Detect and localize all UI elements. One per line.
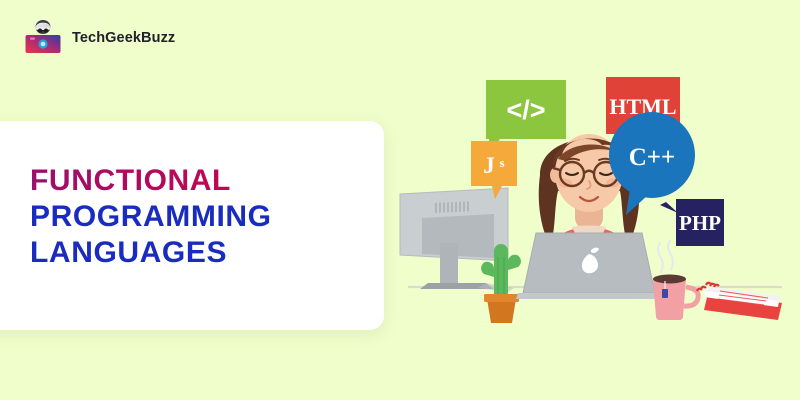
cpp-bubble-label: C++: [629, 144, 676, 171]
js-bubble-label-sup: s: [499, 155, 504, 170]
code-bubble-label: </>: [506, 95, 545, 125]
camera-logo-icon: [24, 18, 62, 58]
laptop: [516, 233, 662, 299]
brand-logo[interactable]: TechGeekBuzz: [24, 18, 175, 58]
php-bubble-label: PHP: [679, 211, 721, 235]
brand-name: TechGeekBuzz: [72, 30, 175, 46]
developer-at-desk-illustration: </> HTML J s C++ P: [390, 55, 800, 355]
page-title: FUNCTIONAL PROGRAMMING LANGUAGES: [30, 163, 380, 271]
php-bubble: PHP: [660, 199, 724, 246]
coffee-mug: [653, 241, 698, 320]
title-line-1: FUNCTIONAL: [30, 163, 380, 199]
spiral-notebook: [697, 283, 782, 320]
js-bubble-label: J: [483, 153, 495, 178]
title-line-3: LANGUAGES: [30, 235, 380, 271]
title-line-2: PROGRAMMING: [30, 199, 380, 235]
banner-root: TechGeekBuzz FUNCTIONAL PROGRAMMING LANG…: [0, 0, 800, 400]
